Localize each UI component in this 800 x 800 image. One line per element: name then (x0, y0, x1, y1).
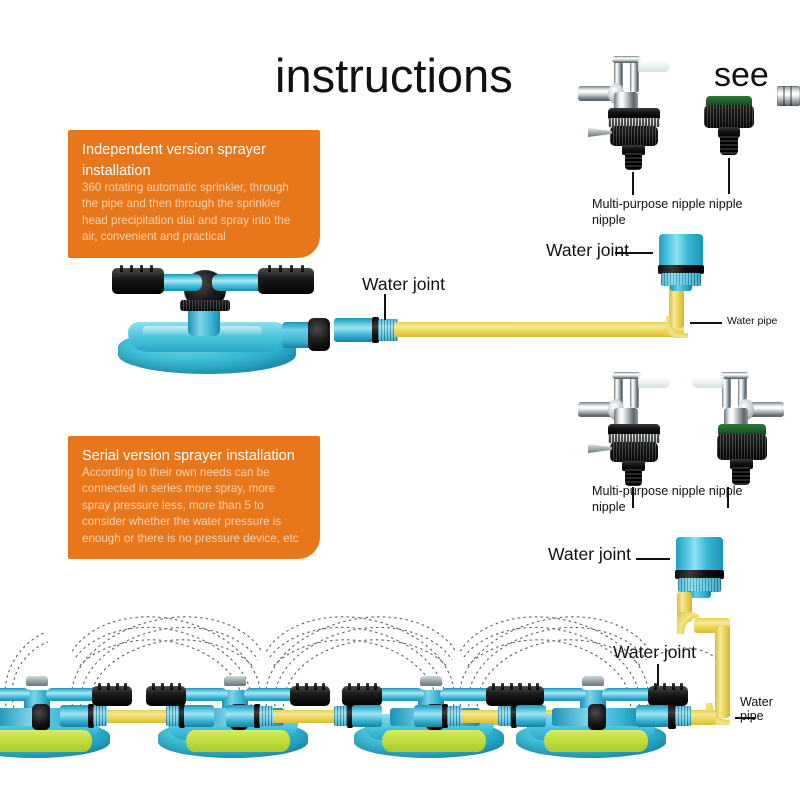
sprinkler-serial-pad-4 (544, 730, 648, 752)
water-joint-serial-6-body (516, 705, 546, 727)
faucet-top-bar-mid (612, 372, 641, 379)
water-joint-serial-end-body (636, 705, 670, 727)
sprinkler-serial-pad-2 (186, 730, 290, 752)
sprinkler-serial-pad-3 (382, 730, 486, 752)
water-joint-serial-end[interactable] (636, 702, 692, 730)
water-joint-serial-5[interactable] (414, 702, 462, 730)
see-label: see (714, 56, 769, 95)
callout-independent-body: 360 rotating automatic sprinkler, throug… (82, 180, 306, 246)
leader-line-multipurpose-top (632, 172, 634, 195)
adapter-clamp-lever (588, 128, 612, 137)
water-pipe-top-elbow (666, 316, 688, 338)
label-multipurpose-nipple-top: Multi-purpose nipple nipple (592, 196, 743, 212)
water-joint-collar-3 (678, 578, 721, 592)
water-joint-serial-1-knurl (93, 706, 107, 726)
label-nipple-second-line-top: nipple (592, 212, 626, 228)
leader-line-water-pipe-top (690, 322, 722, 324)
label-nipple-second-line-mid: nipple (592, 499, 626, 515)
water-joint-serial-5-knurl (447, 706, 461, 726)
label-water-joint-bottom-tap: Water joint (548, 544, 631, 565)
adapter-grip-collar-mid (610, 442, 658, 462)
adapter-black-grip-mid (717, 434, 767, 460)
tap-adapter-multipurpose-top (572, 56, 692, 176)
adapter-green-nipple (720, 136, 738, 155)
sprinkler-serial-pad-1 (0, 730, 92, 752)
adapter-grip-collar (610, 126, 658, 146)
water-joint-cap-3 (676, 537, 723, 571)
callout-serial-heading: Serial version sprayer installation (82, 446, 306, 467)
sprinkler-nozzle-left (112, 268, 164, 294)
leader-line-water-joint-bottom-tap (636, 558, 670, 560)
water-joint-serial-4[interactable] (334, 702, 382, 730)
water-joint-serial-1-body (60, 705, 90, 727)
leader-line-water-joint-top-sprinkler (384, 294, 386, 320)
water-joint-serial-1[interactable] (60, 702, 108, 730)
water-joint-serial-6[interactable] (498, 702, 546, 730)
water-joint-serial-2-knurl (166, 706, 180, 726)
tap-adapter-multipurpose-middle (572, 372, 692, 492)
leader-line-nipple-right-top (728, 158, 730, 194)
water-joint-serial-6-knurl (498, 706, 512, 726)
water-joint-serial-end-knurl (675, 706, 691, 726)
water-joint-serial-5-body (414, 705, 444, 727)
tap-adapter-green-middle (700, 372, 800, 492)
sprinkler-serial-topknob-2 (224, 676, 246, 686)
leader-line-nipple-right-mid (727, 487, 729, 508)
water-joint-serial-3[interactable] (226, 702, 274, 730)
water-joint-serial-2[interactable] (166, 702, 214, 730)
water-joint-horizontal-sprinkler[interactable] (334, 316, 396, 344)
water-joint-vertical-bottom[interactable] (673, 537, 727, 597)
water-joint-vertical-top[interactable] (656, 234, 706, 290)
callout-serial-body: According to their own needs can be conn… (82, 465, 306, 547)
adapter-body-multipurpose-mid (606, 424, 662, 486)
label-water-pipe-bottom-line2: pipe (740, 709, 773, 723)
chrome-fitting-edge (777, 86, 800, 106)
chrome-fitting-groove-1 (783, 86, 785, 106)
label-water-pipe-bottom-line1: Water (740, 695, 773, 709)
sprinkler-serial-topknob-1 (26, 676, 48, 686)
water-joint-neck-2 (670, 285, 692, 291)
diagram-canvas: instructions see Multi-purpose nipple ni… (0, 0, 800, 800)
adapter-body-green-mid (714, 424, 772, 486)
water-joint-serial-2-body (184, 705, 214, 727)
adapter-body-multipurpose (606, 108, 662, 170)
sprinkler-serial-knob-1 (32, 704, 50, 730)
sprinkler-serial-topknob-3 (420, 676, 442, 686)
faucet-handle-wing-mid (638, 376, 670, 388)
water-joint-cap-2 (659, 234, 703, 266)
chrome-fitting-groove-2 (790, 86, 792, 106)
sprinkler-inlet-black-knob (308, 318, 330, 351)
label-water-joint-top-sprinkler-wrap: Water joint (362, 274, 445, 295)
water-joint-serial-4-knurl (334, 706, 348, 726)
water-joint-serial-4-body (352, 705, 382, 727)
sprinkler-serial-knob-4 (588, 704, 606, 730)
faucet-top-bar (612, 56, 641, 63)
sprinkler-serial-arm-left-1 (0, 688, 30, 701)
water-joint-serial-3-body (226, 705, 256, 727)
sprinkler-nozzle-right (258, 268, 314, 294)
adapter-black-grip (704, 105, 754, 128)
water-joint-body-1 (334, 318, 374, 342)
label-water-pipe-top: Water pipe (727, 315, 777, 327)
sprinkler-serial-nozzle-right-2 (290, 686, 330, 706)
label-water-joint-top-sprinkler: Water joint (362, 274, 445, 295)
label-water-pipe-bottom-wrap: Water pipe (740, 695, 773, 724)
callout-independent-version: Independent version sprayer installation… (68, 130, 320, 258)
adapter-clamp-lever-mid (588, 444, 612, 453)
callout-independent-heading: Independent version sprayer installation (82, 140, 306, 182)
adapter-threaded-nipple (625, 153, 642, 170)
adapter-green-top-right (700, 96, 758, 166)
callout-serial-version: Serial version sprayer installation Acco… (68, 436, 320, 559)
faucet-handle-wing (638, 60, 670, 72)
water-joint-serial-3-knurl (259, 706, 273, 726)
page-title: instructions (275, 52, 545, 99)
water-pipe-top-horizontal (394, 322, 684, 337)
adapter-green-nipple-mid (732, 467, 750, 485)
faucet-handle-wing-green (692, 376, 724, 388)
faucet-top-bar-green (720, 372, 749, 379)
sprinkler-serial-topknob-4 (582, 676, 604, 686)
sprinkler-hub-collar (180, 300, 230, 311)
label-water-joint-top-tap: Water joint (546, 240, 629, 261)
